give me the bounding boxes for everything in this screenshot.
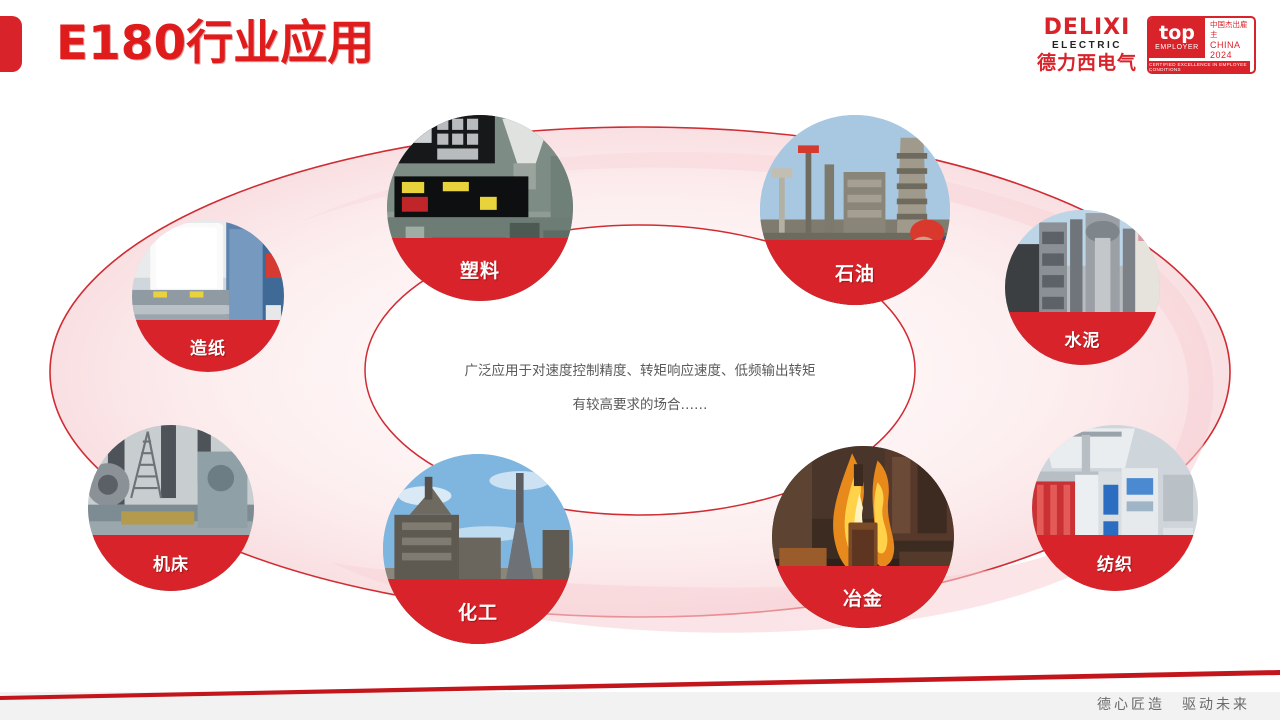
badge-certification-line: CERTIFIED EXCELLENCE IN EMPLOYEE CONDITI…: [1149, 61, 1250, 72]
delixi-subtitle-en: ELECTRIC: [1052, 41, 1122, 51]
badge-word-top: top: [1159, 25, 1195, 41]
badge-cn-text: 中国杰出雇主: [1207, 20, 1253, 40]
industry-label-petroleum: 石油: [760, 240, 950, 305]
diagram-stage: 广泛应用于对速度控制精度、转矩响应速度、低频输出转矩 有较高要求的场合…… 造纸: [0, 92, 1280, 662]
top-employer-badge-icon: top EMPLOYER 中国杰出雇主 CHINA 2024 CERTIFIED…: [1147, 16, 1256, 74]
delixi-wordmark-en: DELIXI: [1044, 17, 1131, 39]
badge-details: 中国杰出雇主 CHINA 2024: [1207, 20, 1253, 60]
industry-node-plastic[interactable]: 塑料: [387, 115, 573, 301]
industry-node-metallurgy[interactable]: 冶金: [772, 446, 954, 628]
industry-node-paper[interactable]: 造纸: [132, 220, 284, 372]
delixi-logo: DELIXI ELECTRIC 德力西电气: [1037, 17, 1137, 73]
brand-logo-group: DELIXI ELECTRIC 德力西电气 top EMPLOYER 中国杰出雇…: [1037, 14, 1256, 76]
industry-label-plastic: 塑料: [387, 238, 573, 301]
footer-accent-line: [0, 662, 1280, 702]
page-title: E180行业应用: [56, 16, 374, 72]
title-accent-marker: [0, 16, 22, 72]
center-line-1: 广泛应用于对速度控制精度、转矩响应速度、低频输出转矩: [390, 354, 890, 388]
industry-label-textile: 纺织: [1032, 535, 1198, 591]
industry-node-cement[interactable]: 水泥: [1005, 210, 1160, 365]
industry-node-petroleum[interactable]: 石油: [760, 115, 950, 305]
industry-label-cement: 水泥: [1005, 312, 1160, 365]
industry-label-paper: 造纸: [132, 320, 284, 372]
industry-node-textile[interactable]: 纺织: [1032, 425, 1198, 591]
page-footer: 德心匠造 驱动未来: [0, 662, 1280, 720]
center-description: 广泛应用于对速度控制精度、转矩响应速度、低频输出转矩 有较高要求的场合……: [390, 354, 890, 422]
industry-node-machine-tool[interactable]: 机床: [88, 425, 254, 591]
industry-label-metallurgy: 冶金: [772, 566, 954, 628]
badge-country: CHINA: [1207, 40, 1253, 50]
badge-year: 2024: [1207, 50, 1253, 60]
footer-slogan: 德心匠造 驱动未来: [1097, 694, 1250, 714]
badge-word-employer: EMPLOYER: [1155, 43, 1199, 52]
page-header: E180行业应用 DELIXI ELECTRIC 德力西电气 top EMPLO…: [0, 0, 1280, 92]
industry-label-machine-tool: 机床: [88, 535, 254, 591]
industry-label-chemical: 化工: [383, 579, 573, 644]
delixi-wordmark-cn: 德力西电气: [1037, 54, 1137, 73]
center-line-2: 有较高要求的场合……: [390, 388, 890, 422]
top-employer-mark: top EMPLOYER: [1149, 18, 1205, 58]
industry-node-chemical[interactable]: 化工: [383, 454, 573, 644]
